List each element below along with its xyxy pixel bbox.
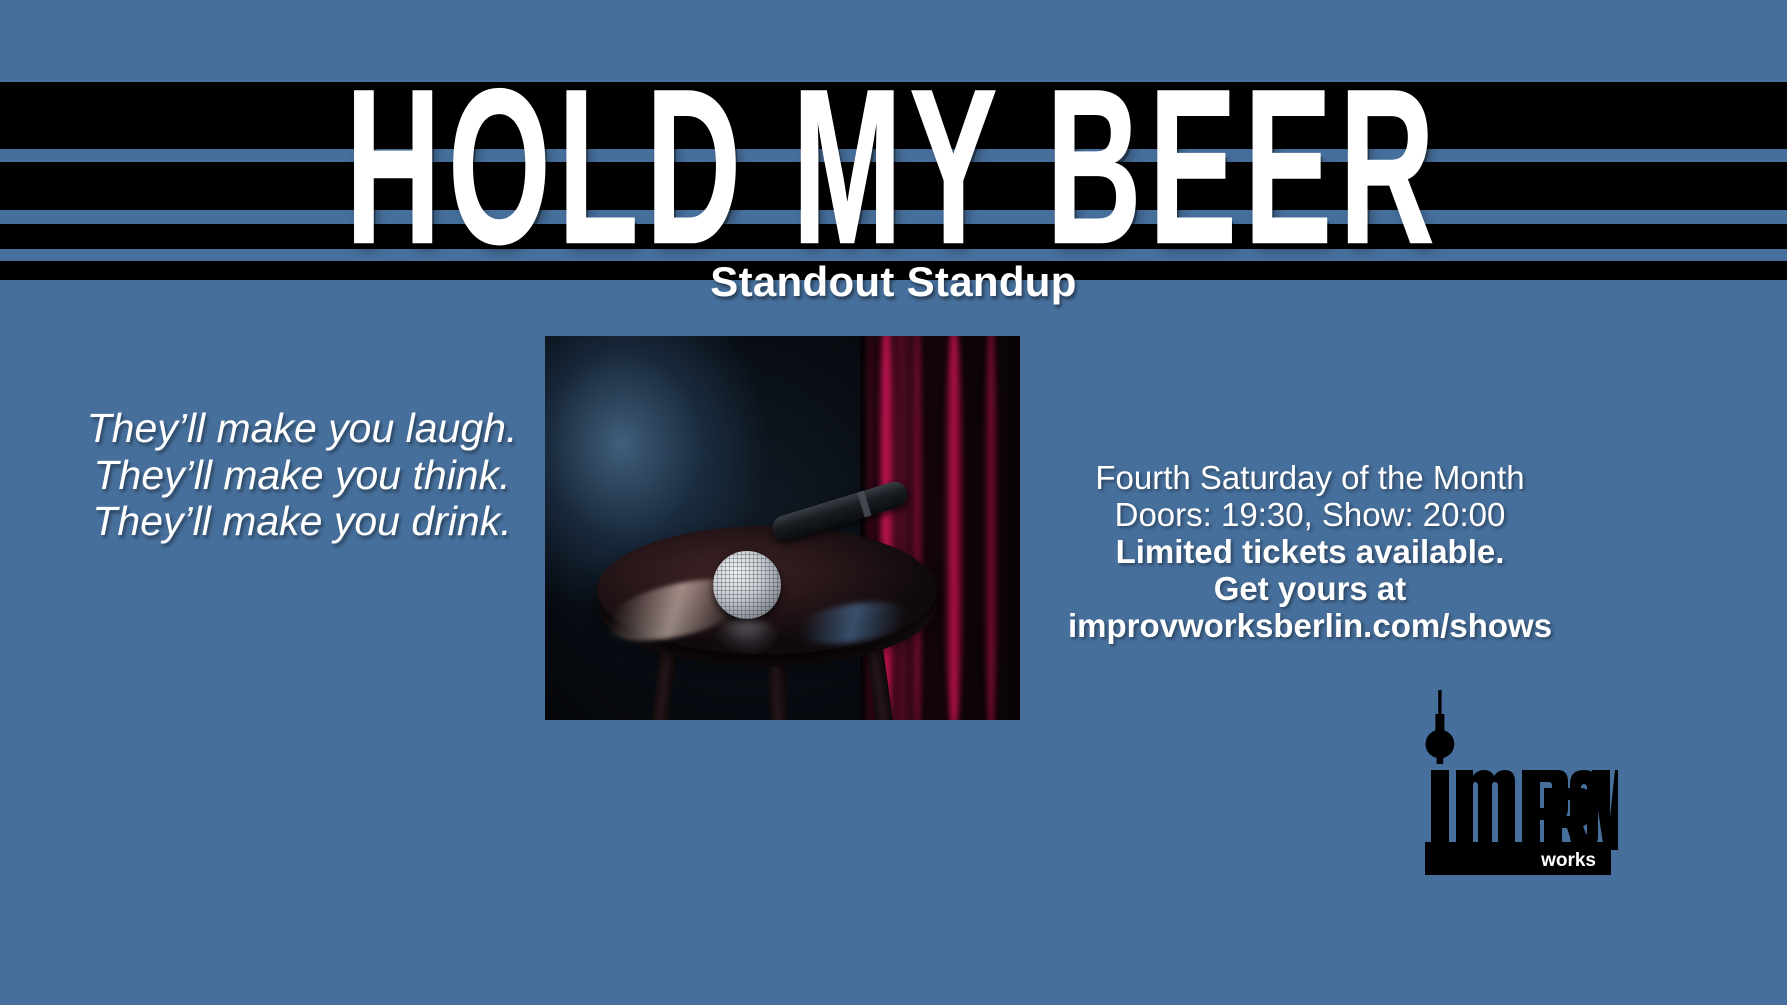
poster-subtitle: Standout Standup [0,258,1787,306]
curtain-fold-4 [984,336,998,720]
event-info: Fourth Saturday of the Month Doors: 19:3… [1030,460,1590,645]
microphone-head [713,551,781,619]
curtain-fold-3 [944,336,964,720]
berlin-tv-tower-icon [1426,690,1455,764]
tickets-url[interactable]: improvworksberlin.com/shows [1030,608,1590,645]
quote-line-2: They’ll make you think. [52,452,552,499]
improv-works-logo[interactable]: works [1418,690,1618,875]
quote-line-3: They’ll make you drink. [52,498,552,545]
event-times: Doors: 19:30, Show: 20:00 [1030,497,1590,534]
curtain-fold-2 [912,336,923,720]
tagline-quote: They’ll make you laugh. They’ll make you… [52,405,552,545]
poster-canvas: HOLD MY BEER Standout Standup They’ll ma… [0,0,1787,1005]
quote-line-1: They’ll make you laugh. [52,405,552,452]
microphone-mesh [713,551,781,619]
banner-stripe-1 [0,149,1787,162]
logo-tagline-text: works [1540,850,1596,871]
title-banner [0,82,1787,280]
microphone-ring [857,491,871,518]
tickets-cta: Get yours at [1030,571,1590,608]
microphone-stool-photo [545,336,1020,720]
improv-works-logo-svg: works [1418,690,1618,875]
microphone-reflection [717,618,777,652]
banner-stripe-2 [0,210,1787,224]
tickets-notice: Limited tickets available. [1030,534,1590,571]
event-schedule: Fourth Saturday of the Month [1030,460,1590,497]
